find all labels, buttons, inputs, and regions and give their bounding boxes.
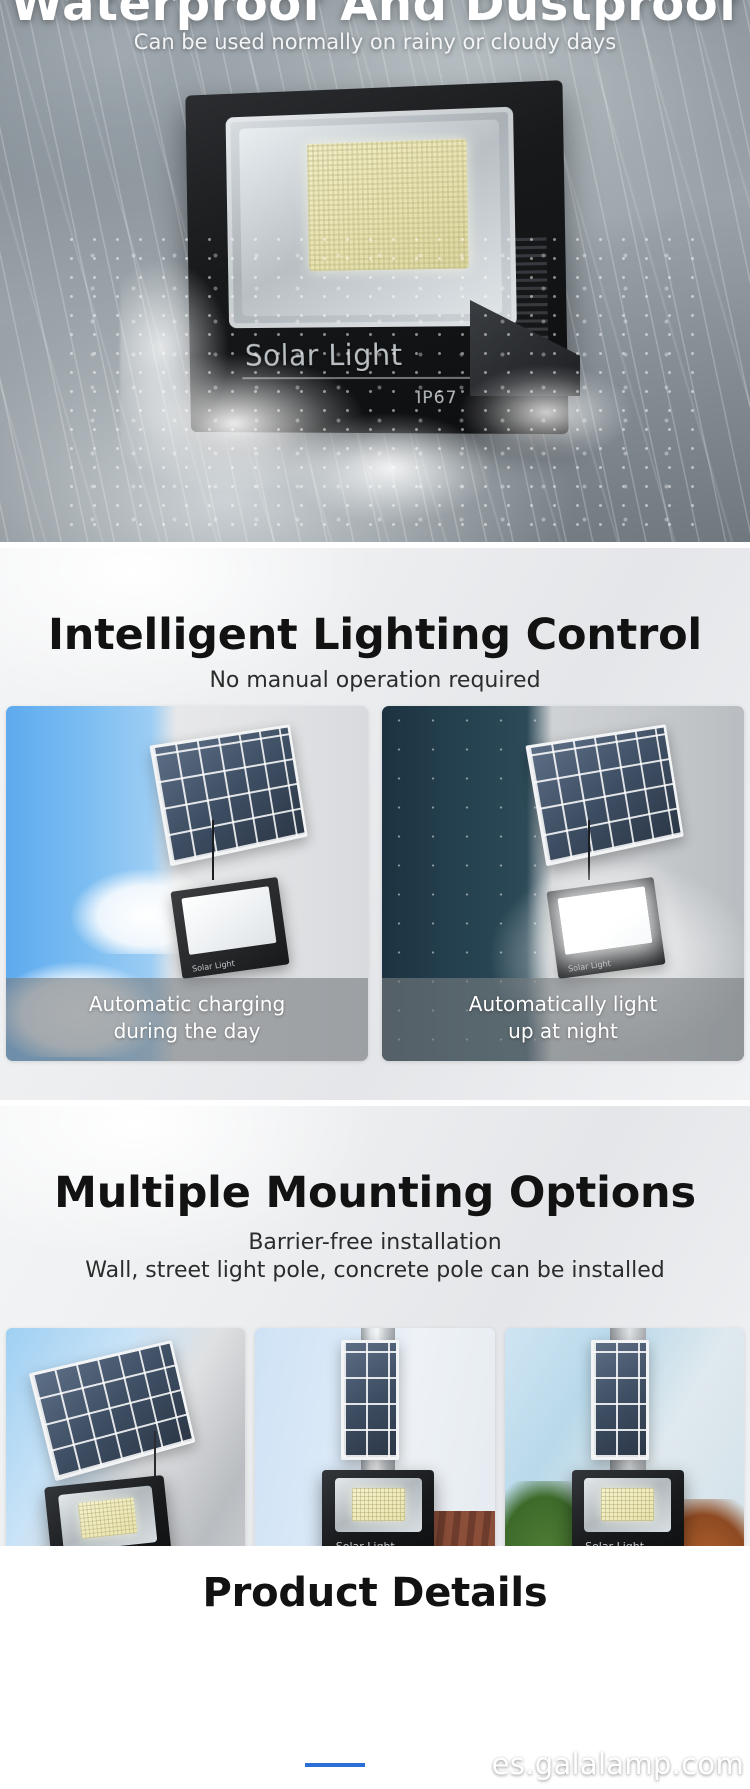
caption-line-1: Automatic charging <box>89 992 285 1016</box>
mounting-card-row: Solar Light IP67 Wall mount Solar Light … <box>0 1328 750 1546</box>
lamp-face <box>557 886 653 955</box>
lamp-bezel <box>335 1478 422 1532</box>
flood-light: Solar Light IP67 <box>322 1470 434 1546</box>
lamp-label: Solar Light <box>568 958 612 973</box>
led-array <box>352 1488 404 1522</box>
flood-light: Solar Light IP67 <box>572 1470 684 1546</box>
waterproof-banner-section: Solar Light IP67 Waterproof And Dustproo… <box>0 0 750 542</box>
intelligent-subtitle: No manual operation required <box>0 668 750 693</box>
site-watermark: es.galalamp.com <box>492 1747 744 1781</box>
connection-wire <box>154 1431 156 1476</box>
card-light-pole-installation[interactable]: Solar Light IP67 Light pole installation <box>255 1328 494 1546</box>
flood-light-unlit: Solar Light <box>171 876 290 978</box>
led-array <box>601 1488 653 1522</box>
lamp-face <box>181 886 277 955</box>
card-caption-automatic-night-light: Automatically light up at night <box>382 978 744 1061</box>
lamp-label: Solar Light <box>192 958 236 973</box>
lamp-bezel <box>58 1486 157 1546</box>
lamp-bezel <box>584 1478 671 1532</box>
caption-line-1: Automatically light <box>469 992 657 1016</box>
intelligent-title: Intelligent Lighting Control <box>0 548 750 660</box>
solar-panel <box>525 725 683 867</box>
solar-panel <box>28 1340 195 1481</box>
mounting-subtitle-1: Barrier-free installation <box>0 1230 750 1255</box>
connection-wire <box>212 820 214 880</box>
solar-panel <box>149 725 307 867</box>
mounting-options-section: Multiple Mounting Options Barrier-free i… <box>0 1106 750 1546</box>
card-wall-mount[interactable]: Solar Light IP67 Wall mount <box>6 1328 245 1546</box>
mounting-title: Multiple Mounting Options <box>0 1106 750 1218</box>
flood-light-lit: Solar Light <box>547 876 666 978</box>
product-details-section: Product Details <box>0 1546 750 1651</box>
flood-light: Solar Light IP67 <box>44 1475 174 1546</box>
card-automatic-charging[interactable]: Solar Light Automatic charging during th… <box>6 706 368 1061</box>
card-caption-automatic-charging: Automatic charging during the day <box>6 978 368 1061</box>
banner-subtitle: Can be used normally on rainy or cloudy … <box>0 30 750 54</box>
solar-panel <box>341 1340 399 1460</box>
solar-panel <box>591 1340 649 1460</box>
caption-line-2: up at night <box>508 1019 618 1043</box>
watermark-accent-rule <box>305 1763 365 1767</box>
card-automatic-night-light[interactable]: Solar Light Automatically light up at ni… <box>382 706 744 1061</box>
water-droplets-effect <box>60 230 700 530</box>
banner-title: Waterproof And Dustproof <box>0 0 750 32</box>
mounting-subtitle-2: Wall, street light pole, concrete pole c… <box>0 1258 750 1283</box>
led-array <box>78 1498 138 1539</box>
caption-line-2: during the day <box>114 1019 261 1043</box>
product-details-title: Product Details <box>0 1546 750 1616</box>
intelligent-lighting-section: Intelligent Lighting Control No manual o… <box>0 548 750 1100</box>
intelligent-card-row: Solar Light Automatic charging during th… <box>0 706 750 1061</box>
card-cement-column-installation[interactable]: Solar Light IP67 Cement column installat… <box>505 1328 744 1546</box>
